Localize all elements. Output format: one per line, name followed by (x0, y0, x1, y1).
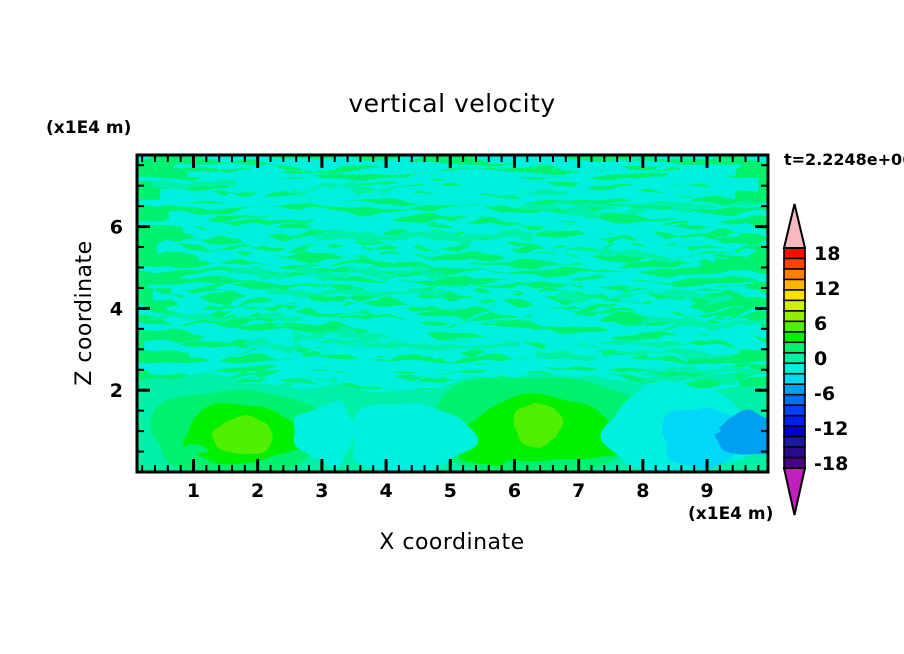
vertical-velocity-contour-figure: vertical velocity (x1E4 m) 123456789 246… (0, 0, 904, 654)
colorbar-tick-label: 6 (814, 313, 827, 335)
x-tick-label: 2 (251, 480, 264, 502)
colorbar-band (784, 269, 805, 280)
colorbar-band (784, 395, 805, 406)
x-tick-label: 9 (700, 480, 713, 502)
colorbar-band (784, 426, 805, 437)
x-axis-unit-label: (x1E4 m) (688, 504, 773, 524)
x-tick-label: 8 (636, 480, 649, 502)
time-annotation: t=2.2248e+06 (784, 150, 904, 169)
colorbar-band (784, 416, 805, 427)
x-tick-label: 6 (508, 480, 521, 502)
x-tick-label: 1 (187, 480, 200, 502)
y-tick-label: 6 (110, 217, 123, 239)
colorbar-band (784, 384, 805, 395)
colorbar-bands (784, 204, 805, 515)
colorbar-band (784, 311, 805, 322)
colorbar-band (784, 258, 805, 269)
plot-area: 123456789 246 (107, 146, 850, 505)
colorbar-band (784, 300, 805, 311)
x-axis-title: X coordinate (379, 530, 524, 555)
colorbar-band (784, 374, 805, 385)
x-tick-label: 7 (572, 480, 585, 502)
colorbar-band (784, 437, 805, 448)
y-tick-label: 4 (110, 298, 123, 320)
y-axis-unit-label: (x1E4 m) (46, 118, 131, 138)
contour-field (107, 146, 850, 505)
x-tick-label: 4 (379, 480, 392, 502)
colorbar-band (784, 321, 805, 332)
colorbar-band (784, 332, 805, 343)
figure-root: vertical velocity (x1E4 m) 123456789 246… (0, 0, 904, 654)
colorbar-band (784, 342, 805, 353)
page-title: vertical velocity (348, 89, 555, 118)
colorbar-tick-label: -12 (814, 418, 848, 440)
colorbar-band (784, 447, 805, 458)
colorbar-tick-label: -18 (814, 453, 848, 475)
x-tick-label: 5 (444, 480, 457, 502)
colorbar-tick-label: 0 (814, 348, 827, 370)
colorbar-band (784, 405, 805, 416)
colorbar-tick-label: 12 (814, 278, 840, 300)
colorbar-band (784, 363, 805, 374)
colorbar-band (784, 353, 805, 364)
x-tick-label: 3 (315, 480, 328, 502)
colorbar-band (784, 290, 805, 301)
colorbar-band (784, 458, 805, 469)
colorbar-tick-label: 18 (814, 243, 840, 265)
y-tick-label: 2 (110, 380, 123, 402)
colorbar-band (784, 279, 805, 290)
colorbar-band (784, 248, 805, 259)
y-axis-title: Z coordinate (72, 240, 97, 385)
colorbar-tick-label: -6 (814, 383, 835, 405)
